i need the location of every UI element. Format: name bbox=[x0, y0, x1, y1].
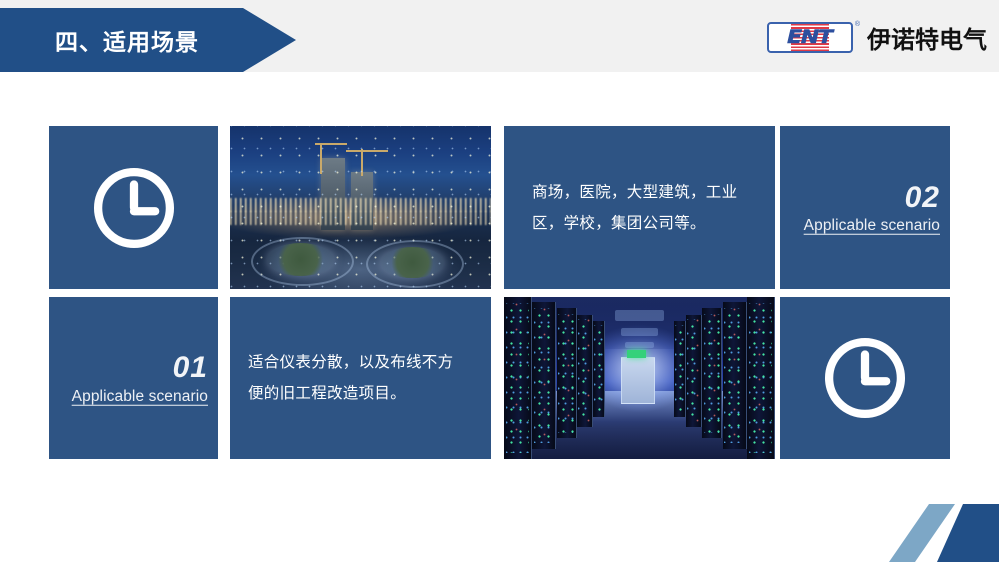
rack-leds bbox=[687, 319, 700, 422]
exit-door bbox=[621, 357, 656, 404]
data-center-photo-cell bbox=[504, 297, 775, 459]
rack-leds bbox=[704, 314, 720, 433]
scenario-text-top: 商场，医院，大型建筑，工业区，学校，集团公司等。 bbox=[504, 177, 775, 239]
plaza-ring-left bbox=[251, 237, 354, 287]
scenario-text-bottom: 适合仪表分散，以及布线不方便的旧工程改造项目。 bbox=[230, 347, 491, 409]
exit-sign-icon bbox=[627, 350, 646, 357]
server-rack-l1 bbox=[504, 297, 532, 459]
rack-leds bbox=[558, 314, 574, 433]
scenario-grid: 商场，医院，大型建筑，工业区，学校，集团公司等。 02 Applicable s… bbox=[49, 126, 950, 459]
rack-leds bbox=[724, 308, 743, 444]
rack-leds bbox=[675, 325, 684, 413]
clock-icon bbox=[819, 332, 911, 424]
scenario-text-cell-top: 商场，医院，大型建筑，工业区，学校，集团公司等。 bbox=[504, 126, 775, 289]
server-rack-r4 bbox=[686, 315, 702, 427]
server-rack-l3 bbox=[557, 308, 577, 438]
clock-cell-top-left bbox=[49, 126, 218, 289]
scenario-number-02: 02 bbox=[780, 180, 940, 215]
scenario-text-cell-bottom: 适合仪表分散，以及布线不方便的旧工程改造项目。 bbox=[230, 297, 491, 459]
logo-company-name: 伊诺特电气 bbox=[867, 20, 987, 55]
ceiling-light-panel-1 bbox=[615, 310, 664, 321]
night-city-photo-cell bbox=[230, 126, 491, 289]
server-rack-r2 bbox=[723, 302, 747, 449]
rack-leds bbox=[506, 303, 529, 452]
server-rack-r5 bbox=[674, 321, 686, 417]
ent-logo-mark: ENT bbox=[767, 22, 853, 53]
logo-mark-text: ENT bbox=[787, 28, 832, 47]
registered-trademark-icon: ® bbox=[855, 21, 860, 28]
server-rack-l2 bbox=[532, 302, 556, 449]
server-rack-l4 bbox=[577, 315, 593, 427]
rack-leds bbox=[594, 325, 603, 413]
plaza-ring-right bbox=[366, 240, 464, 288]
server-rack-r3 bbox=[702, 308, 722, 438]
scenario-number-01: 01 bbox=[49, 351, 208, 386]
data-center-server-room-image bbox=[504, 297, 775, 459]
scenario-caption-01: Applicable scenario bbox=[72, 387, 208, 405]
ceiling-light-panel-2 bbox=[621, 328, 659, 336]
page-title: 四、适用场景 bbox=[55, 23, 199, 57]
scenario-caption-02: Applicable scenario bbox=[804, 217, 940, 235]
server-rack-l5 bbox=[593, 321, 605, 417]
number-block-02: 02 Applicable scenario bbox=[780, 180, 950, 235]
night-city-skyline-image bbox=[230, 126, 491, 289]
rack-leds bbox=[749, 303, 772, 452]
scenario-number-cell-01: 01 Applicable scenario bbox=[49, 297, 218, 459]
brand-logo: ENT ® 伊诺特电气 bbox=[767, 20, 987, 54]
rack-leds bbox=[534, 308, 553, 444]
ceiling-light-panel-3 bbox=[625, 342, 655, 348]
clock-icon bbox=[88, 162, 180, 254]
number-block-01: 01 Applicable scenario bbox=[49, 351, 218, 406]
corner-decoration bbox=[889, 504, 999, 562]
server-rack-r1 bbox=[747, 297, 775, 459]
clock-cell-bottom-right bbox=[780, 297, 950, 459]
scenario-number-cell-02: 02 Applicable scenario bbox=[780, 126, 950, 289]
rack-leds bbox=[578, 319, 591, 422]
